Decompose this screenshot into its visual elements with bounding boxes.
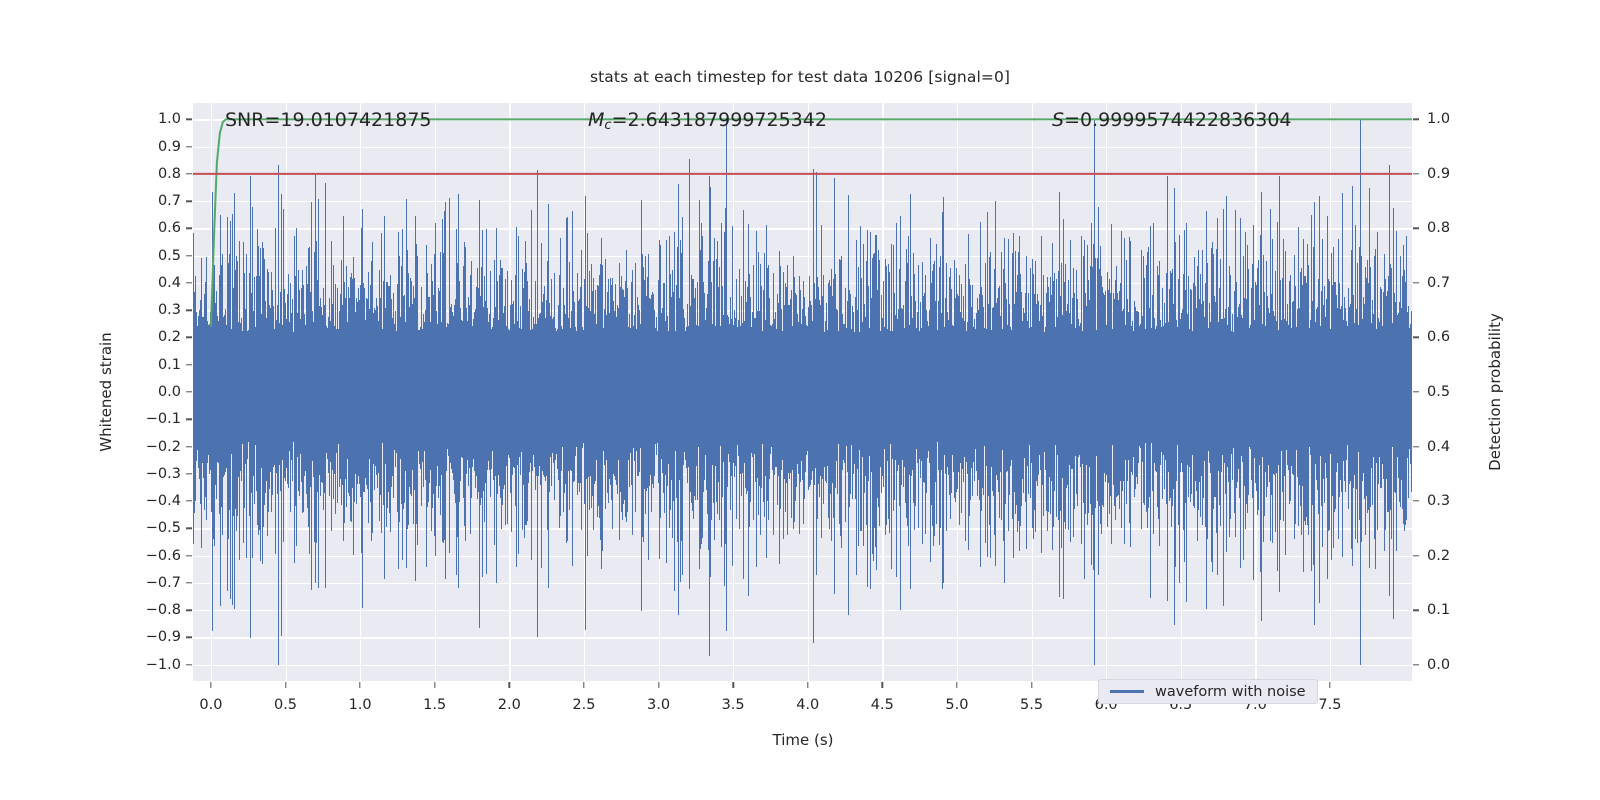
y-axis-left-tick-label: −0.1 (146, 411, 181, 427)
y-axis-left-tick-label: 1.0 (158, 111, 181, 127)
x-axis-tick-mark (359, 682, 360, 688)
y-axis-right-tick-label: 0.3 (1427, 493, 1450, 509)
y-axis-left-tick-mark (186, 391, 192, 392)
y-axis-right-tick-mark (1413, 555, 1419, 556)
y-axis-left-tick-label: 0.1 (158, 357, 181, 373)
annotation-mc: Mc=2.643187999725342 (588, 109, 827, 133)
x-axis-tick-label: 3.5 (722, 697, 745, 713)
legend-label-waveform: waveform with noise (1155, 684, 1306, 700)
plot-area: SNR=19.0107421875 Mc=2.643187999725342 S… (193, 103, 1412, 681)
x-axis-tick-label: 0.0 (199, 697, 222, 713)
y-axis-left-tick-label: −1.0 (146, 657, 181, 673)
x-axis-tick-mark (658, 682, 659, 688)
y-axis-right-tick-mark (1413, 282, 1419, 283)
y-axis-left-label: Whitened strain (97, 332, 115, 451)
y-axis-left-tick-label: −0.8 (146, 602, 181, 618)
y-axis-right-tick-mark (1413, 500, 1419, 501)
x-axis-tick-mark (1329, 682, 1330, 688)
y-axis-left-tick-label: 0.6 (158, 220, 181, 236)
x-axis-label: Time (s) (773, 731, 834, 749)
y-axis-left-tick-mark (186, 119, 192, 120)
y-axis-right-tick-mark (1413, 609, 1419, 610)
y-axis-left-tick-mark (186, 255, 192, 256)
annotation-mc-value: =2.643187999725342 (612, 109, 827, 131)
y-axis-right-tick-label: 1.0 (1427, 111, 1450, 127)
x-axis-tick-label: 4.0 (796, 697, 819, 713)
y-axis-left-tick-label: 0.4 (158, 275, 181, 291)
y-axis-left-tick-label: −0.9 (146, 629, 181, 645)
y-axis-left-tick-mark (186, 337, 192, 338)
y-axis-left-tick-label: 0.3 (158, 302, 181, 318)
y-axis-left-tick-label: 0.7 (158, 193, 181, 209)
x-axis-tick-mark (1031, 682, 1032, 688)
y-axis-right-tick-label: 0.4 (1427, 439, 1450, 455)
x-axis-tick-mark (434, 682, 435, 688)
annotation-s: S=0.9999574422836304 (1052, 109, 1292, 131)
y-axis-right-tick-mark (1413, 173, 1419, 174)
y-axis-left-tick-label: −0.4 (146, 493, 181, 509)
y-axis-right-tick-label: 0.7 (1427, 275, 1450, 291)
y-axis-right-tick-label: 0.2 (1427, 548, 1450, 564)
x-axis-tick-label: 0.5 (274, 697, 297, 713)
x-axis-tick-mark (509, 682, 510, 688)
x-axis-tick-label: 2.0 (498, 697, 521, 713)
annotation-snr-text: SNR=19.0107421875 (225, 109, 432, 131)
x-axis-tick-label: 5.5 (1020, 697, 1043, 713)
y-axis-left-tick-mark (186, 282, 192, 283)
y-axis-left-tick-mark (186, 528, 192, 529)
y-axis-left-tick-label: −0.7 (146, 575, 181, 591)
y-axis-left-tick-label: −0.3 (146, 466, 181, 482)
x-axis-tick-mark (732, 682, 733, 688)
y-axis-right-tick-label: 0.0 (1427, 657, 1450, 673)
x-axis-tick-label: 4.5 (871, 697, 894, 713)
x-axis-tick-label: 1.5 (423, 697, 446, 713)
y-axis-left-tick-mark (186, 637, 192, 638)
y-axis-left-tick-label: 0.9 (158, 139, 181, 155)
y-axis-left-tick-label: 0.2 (158, 329, 181, 345)
y-axis-left-tick-mark (186, 664, 192, 665)
y-axis-left-tick-mark (186, 310, 192, 311)
x-axis-tick-mark (583, 682, 584, 688)
y-axis-right-tick-label: 0.6 (1427, 329, 1450, 345)
x-axis-tick-mark (210, 682, 211, 688)
x-axis-tick-label: 7.5 (1318, 697, 1341, 713)
chart-title: stats at each timestep for test data 102… (0, 68, 1600, 86)
annotation-s-value: =0.9999574422836304 (1064, 109, 1291, 131)
x-axis-tick-label: 1.0 (349, 697, 372, 713)
y-axis-left-tick-label: −0.5 (146, 520, 181, 536)
y-axis-left-tick-mark (186, 609, 192, 610)
x-axis-tick-label: 2.5 (572, 697, 595, 713)
y-axis-left-tick-label: 0.8 (158, 166, 181, 182)
y-axis-left-tick-label: −0.6 (146, 548, 181, 564)
annotation-snr: SNR=19.0107421875 (225, 109, 432, 131)
y-axis-right-tick-label: 0.9 (1427, 166, 1450, 182)
annotation-mc-symbol: M (588, 109, 604, 131)
chart-legend[interactable]: waveform with noise (1098, 679, 1318, 704)
y-axis-left-tick-mark (186, 555, 192, 556)
x-axis-tick-mark (285, 682, 286, 688)
y-axis-left-tick-mark (186, 473, 192, 474)
y-axis-left-tick-label: −0.2 (146, 439, 181, 455)
y-axis-right-tick-mark (1413, 119, 1419, 120)
x-axis-tick-label: 3.0 (647, 697, 670, 713)
y-axis-left-tick-mark (186, 146, 192, 147)
y-axis-right-tick-mark (1413, 446, 1419, 447)
y-axis-left-tick-mark (186, 200, 192, 201)
y-axis-left-tick-mark (186, 500, 192, 501)
y-axis-right-tick-mark (1413, 228, 1419, 229)
y-axis-left-tick-label: 0.5 (158, 248, 181, 264)
y-axis-left-tick-mark (186, 228, 192, 229)
annotation-mc-subscript: c (604, 118, 611, 133)
y-axis-left-tick-mark (186, 364, 192, 365)
detection-threshold-line (193, 103, 1412, 681)
y-axis-right-tick-mark (1413, 391, 1419, 392)
x-axis-tick-mark (956, 682, 957, 688)
legend-swatch-waveform (1110, 690, 1144, 692)
y-axis-right-tick-mark (1413, 337, 1419, 338)
figure-canvas: stats at each timestep for test data 102… (0, 0, 1600, 800)
x-axis-tick-mark (807, 682, 808, 688)
x-axis-tick-mark (882, 682, 883, 688)
y-axis-right-tick-label: 0.5 (1427, 384, 1450, 400)
x-axis-tick-label: 5.0 (945, 697, 968, 713)
y-axis-right-label: Detection probability (1486, 313, 1504, 471)
y-axis-left-tick-mark (186, 446, 192, 447)
y-axis-right-tick-mark (1413, 664, 1419, 665)
y-axis-right-tick-label: 0.1 (1427, 602, 1450, 618)
y-axis-left-tick-mark (186, 419, 192, 420)
y-axis-left-tick-mark (186, 582, 192, 583)
y-axis-right-tick-label: 0.8 (1427, 220, 1450, 236)
y-axis-left-tick-mark (186, 173, 192, 174)
annotation-s-symbol: S (1052, 109, 1064, 131)
y-axis-left-tick-label: 0.0 (158, 384, 181, 400)
